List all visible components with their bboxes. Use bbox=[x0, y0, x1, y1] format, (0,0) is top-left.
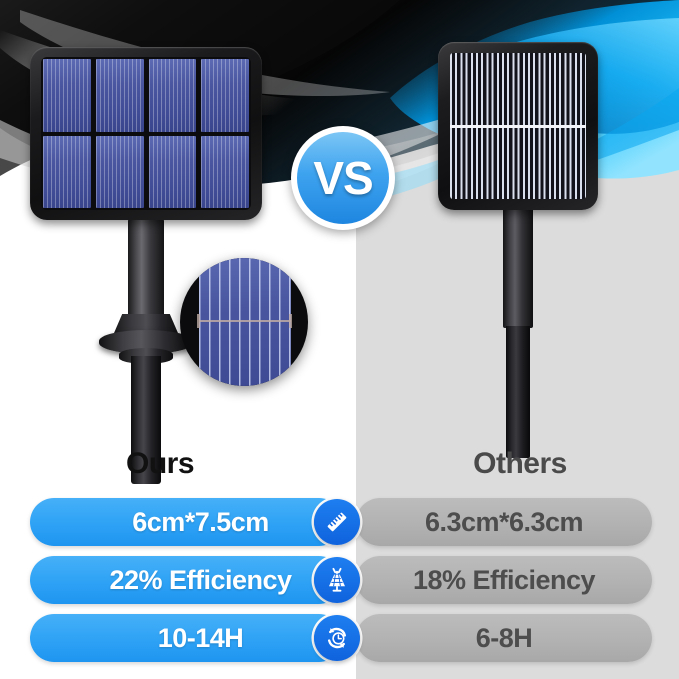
ours-value-pill: 10-14H bbox=[30, 614, 343, 662]
comparison-row: 10-14H 6-8H bbox=[0, 614, 679, 662]
magnified-solar-cell bbox=[199, 258, 291, 386]
solar-cell bbox=[201, 136, 249, 209]
others-busbar bbox=[450, 125, 586, 128]
comparison-row: 6cm*7.5cm 6.3cm*6.3cm bbox=[0, 498, 679, 546]
ours-value-label: 10-14H bbox=[158, 623, 244, 654]
clock-refresh-icon bbox=[314, 615, 360, 661]
solar-cell bbox=[96, 136, 144, 209]
vs-badge-circle: VS bbox=[297, 132, 389, 224]
solar-panel-icon bbox=[314, 557, 360, 603]
ours-value-label: 6cm*7.5cm bbox=[132, 507, 269, 538]
heading-others: Others bbox=[420, 447, 620, 481]
solar-cell bbox=[96, 59, 144, 132]
others-value-label: 6-8H bbox=[476, 623, 533, 654]
comparison-infographic: VS Ours Others 6cm*7.5cm 6.3cm*6.3cm bbox=[0, 0, 679, 679]
comparison-row: 22% Efficiency 18% Efficiency bbox=[0, 556, 679, 604]
ours-value-pill: 22% Efficiency bbox=[30, 556, 343, 604]
vs-badge: VS bbox=[291, 126, 395, 230]
ours-value-pill: 6cm*7.5cm bbox=[30, 498, 343, 546]
others-pole-lower bbox=[506, 326, 530, 458]
comparison-table: 6cm*7.5cm 6.3cm*6.3cm bbox=[0, 498, 679, 672]
others-value-pill: 6.3cm*6.3cm bbox=[356, 498, 652, 546]
solar-cell bbox=[43, 136, 91, 209]
others-pole-upper bbox=[503, 208, 533, 328]
others-value-label: 6.3cm*6.3cm bbox=[425, 507, 583, 538]
heading-ours: Ours bbox=[60, 447, 260, 481]
solar-cell bbox=[149, 59, 197, 132]
product-others-image bbox=[430, 30, 630, 440]
others-value-label: 18% Efficiency bbox=[413, 565, 595, 596]
solar-cell bbox=[149, 136, 197, 209]
ours-solar-panel bbox=[30, 47, 262, 220]
solar-cell bbox=[43, 59, 91, 132]
cell-closeup-magnifier bbox=[180, 258, 308, 386]
ours-value-label: 22% Efficiency bbox=[109, 565, 291, 596]
others-solar-panel bbox=[438, 42, 598, 210]
others-value-pill: 18% Efficiency bbox=[356, 556, 652, 604]
ruler-icon bbox=[314, 499, 360, 545]
vs-label: VS bbox=[313, 155, 372, 201]
ours-cell-grid bbox=[41, 57, 251, 210]
magnified-busbar-tick bbox=[289, 314, 292, 328]
magnified-busbar bbox=[199, 320, 291, 322]
magnified-busbar-tick bbox=[197, 314, 200, 328]
solar-cell bbox=[201, 59, 249, 132]
others-value-pill: 6-8H bbox=[356, 614, 652, 662]
